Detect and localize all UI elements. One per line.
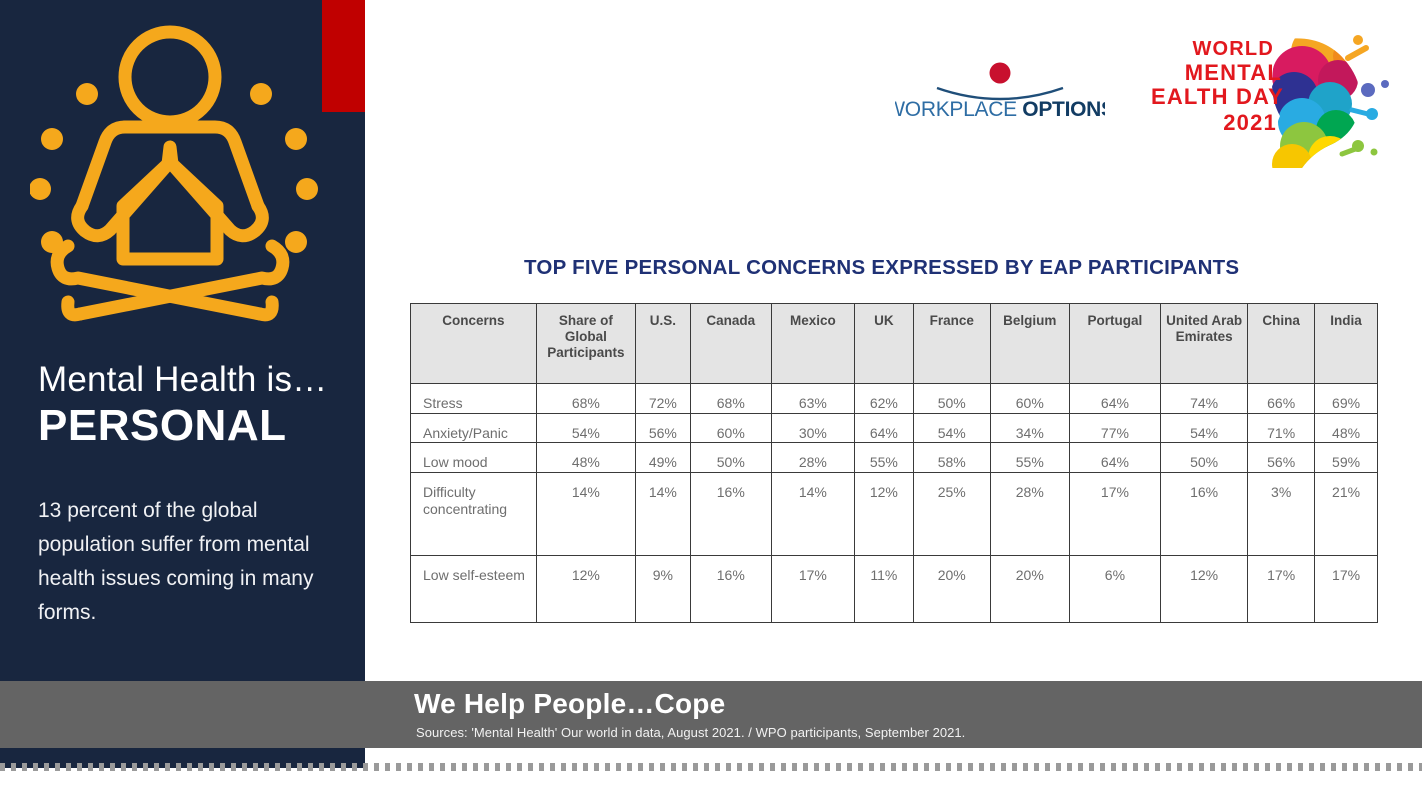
world-mental-health-day-logo: WORLD MENTAL HEALTH DAY 2021 (1152, 18, 1402, 168)
cell-value: 60% (990, 384, 1069, 414)
table-header-row: Concerns Share of Global Participants U.… (411, 304, 1378, 384)
concerns-table: Concerns Share of Global Participants U.… (410, 303, 1378, 623)
cell-value: 77% (1069, 413, 1160, 443)
row-label: Low self-esteem (411, 555, 537, 622)
workplace-options-logo: WORKPLACE OPTIONS (895, 58, 1105, 130)
cell-value: 69% (1315, 384, 1378, 414)
cell-value: 50% (913, 384, 990, 414)
cell-value: 49% (636, 443, 691, 473)
wmhd-line3: HEALTH DAY (1152, 84, 1284, 109)
cell-value: 6% (1069, 555, 1160, 622)
cell-value: 54% (913, 413, 990, 443)
cell-value: 21% (1315, 472, 1378, 555)
cell-value: 34% (990, 413, 1069, 443)
footer-sources: Sources: 'Mental Health' Our world in da… (416, 725, 965, 740)
col-header-canada: Canada (690, 304, 771, 384)
meditation-person-icon (30, 14, 340, 334)
cell-value: 63% (771, 384, 854, 414)
cell-value: 56% (636, 413, 691, 443)
wmhd-line2: MENTAL (1185, 60, 1282, 85)
body-copy: 13 percent of the global population suff… (38, 494, 338, 630)
left-panel: Mental Health is… PERSONAL 13 percent of… (0, 0, 365, 768)
row-label: Anxiety/Panic (411, 413, 537, 443)
cell-value: 56% (1248, 443, 1315, 473)
cell-value: 17% (1315, 555, 1378, 622)
cell-value: 11% (854, 555, 913, 622)
slide-canvas: Mental Health is… PERSONAL 13 percent of… (0, 0, 1422, 800)
cell-value: 17% (1248, 555, 1315, 622)
col-header-mexico: Mexico (771, 304, 854, 384)
cell-value: 64% (1069, 443, 1160, 473)
cell-value: 68% (690, 384, 771, 414)
cell-value: 20% (990, 555, 1069, 622)
row-label: Stress (411, 384, 537, 414)
cell-value: 74% (1161, 384, 1248, 414)
cell-value: 16% (1161, 472, 1248, 555)
cell-value: 16% (690, 472, 771, 555)
cell-value: 60% (690, 413, 771, 443)
col-header-concerns: Concerns (411, 304, 537, 384)
cell-value: 12% (536, 555, 635, 622)
cell-value: 17% (1069, 472, 1160, 555)
cell-value: 3% (1248, 472, 1315, 555)
wmhd-line4: 2021 (1223, 110, 1277, 135)
cell-value: 50% (690, 443, 771, 473)
col-header-uae: United Arab Emirates (1161, 304, 1248, 384)
cell-value: 30% (771, 413, 854, 443)
page-title: TOP FIVE PERSONAL CONCERNS EXPRESSED BY … (524, 256, 1239, 280)
col-header-china: China (1248, 304, 1315, 384)
cell-value: 64% (854, 413, 913, 443)
cell-value: 20% (913, 555, 990, 622)
headline-block: Mental Health is… PERSONAL (38, 362, 358, 450)
cell-value: 12% (1161, 555, 1248, 622)
cell-value: 17% (771, 555, 854, 622)
cell-value: 16% (690, 555, 771, 622)
row-label: Low mood (411, 443, 537, 473)
table-row: Low mood 48% 49% 50% 28% 55% 58% 55% 64%… (411, 443, 1378, 473)
cell-value: 50% (1161, 443, 1248, 473)
cell-value: 66% (1248, 384, 1315, 414)
cell-value: 9% (636, 555, 691, 622)
col-header-belgium: Belgium (990, 304, 1069, 384)
svg-text:WORKPLACE OPTIONS: WORKPLACE OPTIONS (895, 98, 1105, 121)
cell-value: 48% (536, 443, 635, 473)
cell-value: 55% (990, 443, 1069, 473)
cell-value: 62% (854, 384, 913, 414)
cell-value: 55% (854, 443, 913, 473)
table-row: Low self-esteem 12% 9% 16% 17% 11% 20% 2… (411, 555, 1378, 622)
row-label: Difficulty concentrating (411, 472, 537, 555)
footer-headline: We Help People…Cope (414, 688, 725, 720)
table-row: Difficulty concentrating 14% 14% 16% 14%… (411, 472, 1378, 555)
cell-value: 54% (1161, 413, 1248, 443)
col-header-france: France (913, 304, 990, 384)
headline-bold: PERSONAL (38, 401, 358, 450)
col-header-india: India (1315, 304, 1378, 384)
cell-value: 28% (990, 472, 1069, 555)
col-header-uk: UK (854, 304, 913, 384)
col-header-portugal: Portugal (1069, 304, 1160, 384)
cell-value: 28% (771, 443, 854, 473)
cell-value: 12% (854, 472, 913, 555)
cell-value: 48% (1315, 413, 1378, 443)
cell-value: 68% (536, 384, 635, 414)
cell-value: 58% (913, 443, 990, 473)
col-header-share-global: Share of Global Participants (536, 304, 635, 384)
table-row: Anxiety/Panic 54% 56% 60% 30% 64% 54% 34… (411, 413, 1378, 443)
table-row: Stress 68% 72% 68% 63% 62% 50% 60% 64% 7… (411, 384, 1378, 414)
cell-value: 64% (1069, 384, 1160, 414)
bottom-white-strip (365, 748, 1422, 800)
wmhd-line1: WORLD (1192, 38, 1274, 60)
cell-value: 25% (913, 472, 990, 555)
col-header-us: U.S. (636, 304, 691, 384)
cell-value: 14% (536, 472, 635, 555)
cell-value: 71% (1248, 413, 1315, 443)
headline-light: Mental Health is… (38, 362, 358, 399)
dotted-divider (0, 763, 1422, 771)
cell-value: 14% (771, 472, 854, 555)
cell-value: 72% (636, 384, 691, 414)
cell-value: 14% (636, 472, 691, 555)
cell-value: 59% (1315, 443, 1378, 473)
cell-value: 54% (536, 413, 635, 443)
